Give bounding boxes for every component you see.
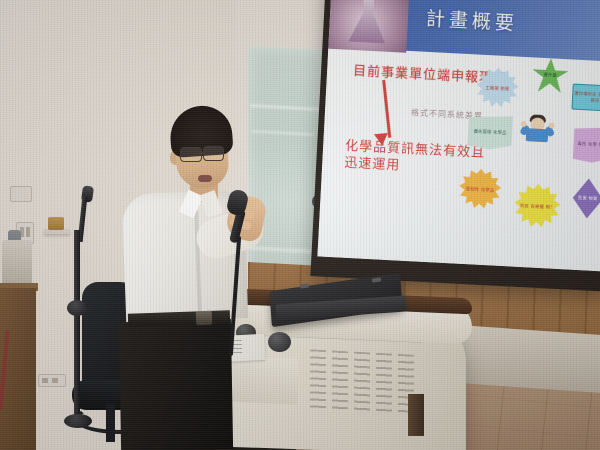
glasses-lens-left xyxy=(180,147,202,162)
cabinet-stacked-items xyxy=(2,240,32,288)
glasses-lens-right xyxy=(203,146,224,161)
podium-knob-2[interactable] xyxy=(268,332,291,352)
presentation-slide: 計畫概要 目前事業單位端申報現況 格式不同系統差異…… 化學品質訊無法有效且 迅… xyxy=(317,0,600,271)
down-arrow-icon xyxy=(382,80,391,138)
slide-shape-label: 管制性 化學品 xyxy=(466,186,495,193)
lab-glassware-photo xyxy=(328,0,409,53)
mic-stand-pole xyxy=(74,230,80,426)
wall-outlet-top xyxy=(10,186,32,202)
slide-conclusion: 化學品質訊無法有效且 迅速運用 xyxy=(344,138,486,179)
glasses-bridge xyxy=(199,152,204,154)
slide-shape-label: 運作場所及 容器材質資訊 xyxy=(573,91,600,105)
podium-vent-grille xyxy=(310,349,414,414)
slide-shape-label: 毒性 化學 物質 xyxy=(577,141,600,149)
slide-shape-rect-cyan: 運作場所及 容器材質資訊 xyxy=(571,84,600,112)
office-chair-post xyxy=(106,404,115,442)
slide-shape-diamond-purple: 危害 物質 xyxy=(572,178,600,220)
projection-screen: 計畫概要 目前事業單位端申報現況 格式不同系統差異…… 化學品質訊無法有效且 迅… xyxy=(310,0,600,292)
slide-shape-label: 運作量 xyxy=(543,72,557,79)
flask-icon xyxy=(347,0,390,44)
presentation-room-photo: 計畫概要 目前事業單位端申報現況 格式不同系統差異…… 化學品質訊無法有效且 迅… xyxy=(0,0,600,450)
slide-shape-burst-yellow: 到底 有幾種 啊？ xyxy=(513,183,561,231)
slide-shape-label: 危害 物質 xyxy=(578,195,598,202)
slide-title: 計畫概要 xyxy=(425,4,518,36)
mic-stand-collar xyxy=(67,300,87,316)
belt-buckle xyxy=(196,311,212,326)
presenter-mouth xyxy=(198,175,212,182)
projection-screen-surface: 計畫概要 目前事業單位端申報現況 格式不同系統差異…… 化學品質訊無法有效且 迅… xyxy=(317,0,600,271)
wall-outlet-low xyxy=(38,374,66,387)
mic-stand-base xyxy=(64,414,92,428)
side-counter xyxy=(455,325,600,393)
slide-shape-label: 優先管理 化學品 xyxy=(473,128,506,136)
slide-shape-star-green: 運作量 xyxy=(531,57,569,93)
slide-shape-label: 到底 有幾種 啊？ xyxy=(520,203,555,211)
shelf-object xyxy=(48,217,64,230)
slide-shape-flag-pink: 毒性 化學 物質 xyxy=(573,126,600,164)
slide-shape-flag-mint: 優先管理 化學品 xyxy=(467,114,513,150)
podium-pedestal xyxy=(408,394,424,436)
confused-character-icon xyxy=(521,113,555,149)
slide-shape-label: 工廠端 物質 xyxy=(485,85,509,92)
presenter-trousers xyxy=(119,319,233,450)
character-hand-right xyxy=(548,122,554,128)
